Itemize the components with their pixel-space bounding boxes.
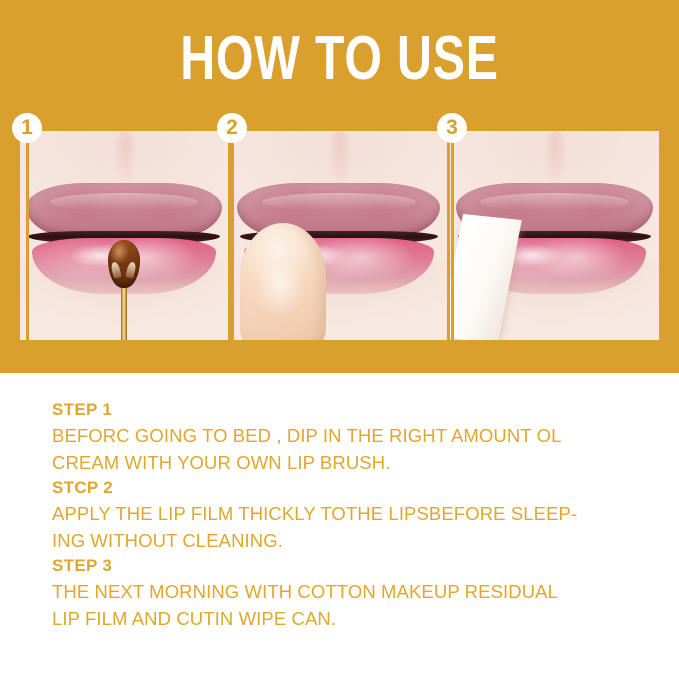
philtrum <box>326 131 354 185</box>
photo-panel-step-2 <box>231 131 447 340</box>
step-3-body: THE NEXT MORNING WITH COTTON MAKEUP RESI… <box>52 578 662 632</box>
step-1-heading: STEP 1 <box>52 398 662 422</box>
badge-stem-2 <box>231 140 234 340</box>
wand-head <box>108 240 140 288</box>
step-3-heading: STEP 3 <box>52 554 662 578</box>
step-badge-3: 3 <box>437 113 467 143</box>
step-2-heading: STCP 2 <box>52 476 662 500</box>
badge-stem-1 <box>26 140 29 340</box>
upper-lip <box>26 183 222 237</box>
lip-photo-2 <box>231 131 447 340</box>
applicator-wand-icon <box>107 240 140 340</box>
badge-stem-3 <box>451 140 454 340</box>
photo-strip <box>20 131 659 340</box>
philtrum <box>112 131 139 185</box>
wand-handle <box>121 280 126 340</box>
page-title: HOW TO USE <box>75 26 605 92</box>
step-1-body: BEFORC GOING TO BED , DIP IN THE RIGHT A… <box>52 422 662 476</box>
philtrum <box>542 131 569 185</box>
lip-photo-1 <box>20 131 228 340</box>
fingertip-icon <box>240 223 326 340</box>
lip-photo-3 <box>450 131 659 340</box>
photo-panel-step-1 <box>20 131 228 340</box>
fingernail <box>255 262 303 314</box>
step-badge-1: 1 <box>12 113 42 143</box>
steps-block: STEP 1 BEFORC GOING TO BED , DIP IN THE … <box>52 398 662 632</box>
photo-panel-step-3 <box>450 131 659 340</box>
step-badge-2: 2 <box>217 113 247 143</box>
step-2-body: APPLY THE LIP FILM THICKLY TOTHE LIPSBEF… <box>52 500 662 554</box>
